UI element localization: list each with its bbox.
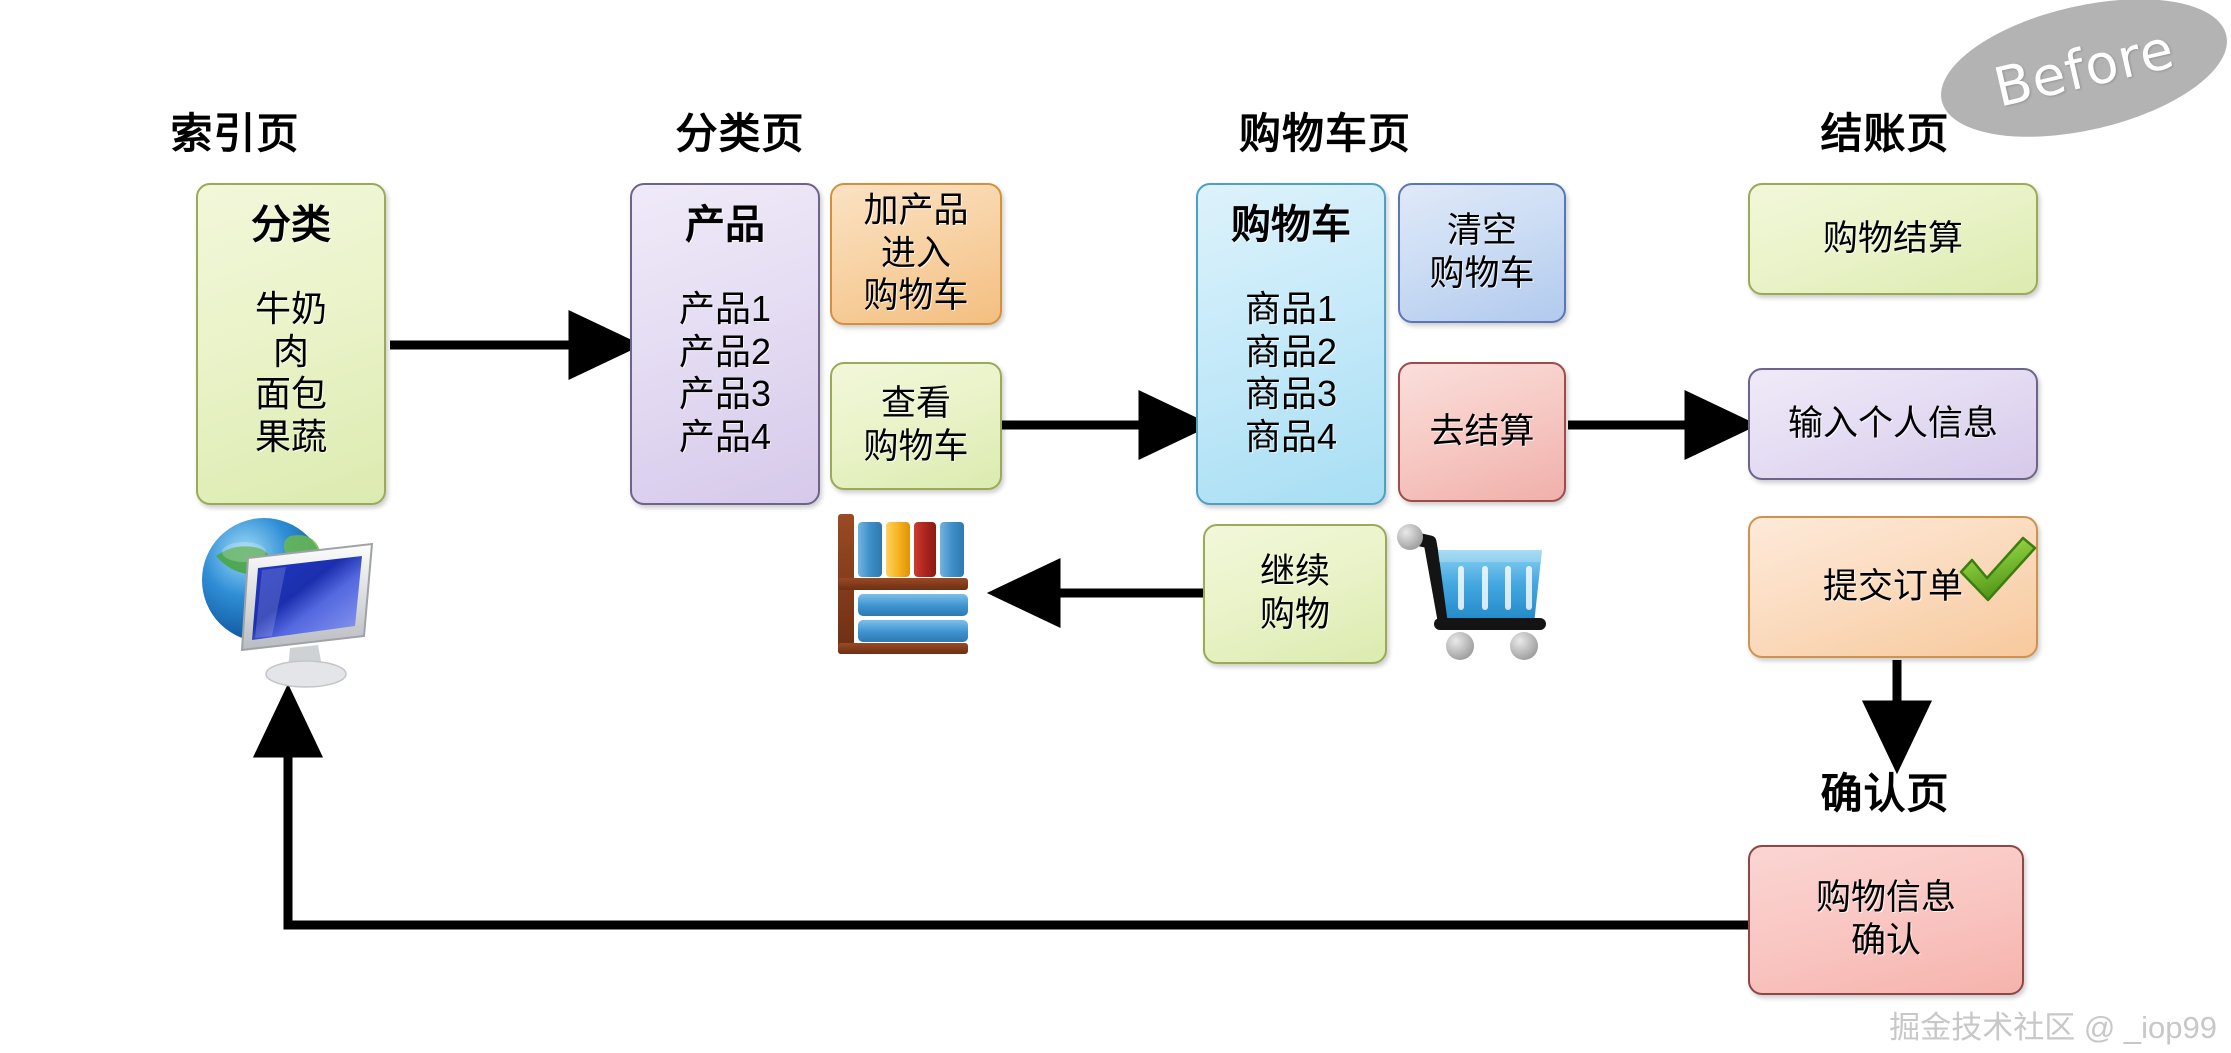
node-continue-shopping[interactable]: 继续 购物 [1203, 524, 1387, 664]
list-item: 产品3 [632, 373, 818, 416]
node-settle-line: 购物结算 [1823, 218, 1963, 261]
node-submit-order-line: 提交订单 [1823, 566, 1963, 609]
node-category-items: 牛奶 肉 面包 果蔬 [198, 288, 384, 459]
node-view-cart-line: 购物车 [863, 426, 968, 469]
list-item: 商品3 [1198, 373, 1384, 416]
node-continue-shopping-line: 继续 [1260, 551, 1330, 594]
diagram-canvas: Before 索引页 分类页 购物车页 结账页 确认页 分类 牛奶 肉 面包 果 [0, 0, 2231, 1053]
node-clear-cart-line: 清空 [1447, 210, 1517, 253]
node-personal-info-line: 输入个人信息 [1788, 403, 1998, 446]
column-header-index: 索引页 [140, 100, 330, 161]
node-clear-cart-line: 购物车 [1429, 253, 1534, 296]
list-item: 产品2 [632, 331, 818, 374]
node-add-to-cart-line: 加产品 [863, 190, 968, 233]
node-view-cart[interactable]: 查看 购物车 [830, 362, 1002, 490]
list-item: 肉 [198, 331, 384, 374]
node-category-title: 分类 [251, 203, 331, 248]
node-add-to-cart-line: 购物车 [863, 275, 968, 318]
node-product-title: 产品 [685, 203, 765, 248]
node-go-checkout-line: 去结算 [1429, 411, 1534, 454]
before-badge-label: Before [1988, 17, 2180, 119]
product-shelf-icon [820, 512, 980, 660]
node-view-cart-line: 查看 [881, 383, 951, 426]
node-go-checkout[interactable]: 去结算 [1398, 362, 1566, 502]
list-item: 商品4 [1198, 416, 1384, 459]
globe-monitor-icon [186, 508, 382, 688]
node-cart-items: 商品1 商品2 商品3 商品4 [1198, 288, 1384, 459]
list-item: 商品2 [1198, 331, 1384, 374]
list-item: 面包 [198, 373, 384, 416]
list-item: 牛奶 [198, 288, 384, 331]
watermark: 掘金技术社区 @ _iop99 [1889, 1002, 2217, 1047]
node-product[interactable]: 产品 产品1 产品2 产品3 产品4 [630, 183, 820, 505]
node-add-to-cart-line: 进入 [881, 233, 951, 276]
list-item: 产品4 [632, 416, 818, 459]
green-check-icon [1955, 534, 2039, 608]
column-header-category: 分类页 [645, 100, 835, 161]
node-cart[interactable]: 购物车 商品1 商品2 商品3 商品4 [1196, 183, 1386, 505]
node-product-items: 产品1 产品2 产品3 产品4 [632, 288, 818, 459]
shopping-cart-icon [1390, 520, 1552, 660]
node-cart-title: 购物车 [1231, 203, 1351, 248]
arrow-confirm-to-index [288, 700, 1748, 925]
node-category[interactable]: 分类 牛奶 肉 面包 果蔬 [196, 183, 386, 505]
column-header-cart: 购物车页 [1200, 100, 1450, 161]
node-add-to-cart[interactable]: 加产品 进入 购物车 [830, 183, 1002, 325]
node-clear-cart[interactable]: 清空 购物车 [1398, 183, 1566, 323]
column-header-checkout: 结账页 [1790, 100, 1980, 161]
node-continue-shopping-line: 购物 [1260, 594, 1330, 637]
column-header-confirm: 确认页 [1790, 760, 1980, 821]
node-settle[interactable]: 购物结算 [1748, 183, 2038, 295]
node-personal-info[interactable]: 输入个人信息 [1748, 368, 2038, 480]
node-confirm-info-line: 确认 [1851, 920, 1921, 963]
node-confirm-info-line: 购物信息 [1816, 877, 1956, 920]
list-item: 产品1 [632, 288, 818, 331]
list-item: 果蔬 [198, 416, 384, 459]
list-item: 商品1 [1198, 288, 1384, 331]
node-confirm-info[interactable]: 购物信息 确认 [1748, 845, 2024, 995]
